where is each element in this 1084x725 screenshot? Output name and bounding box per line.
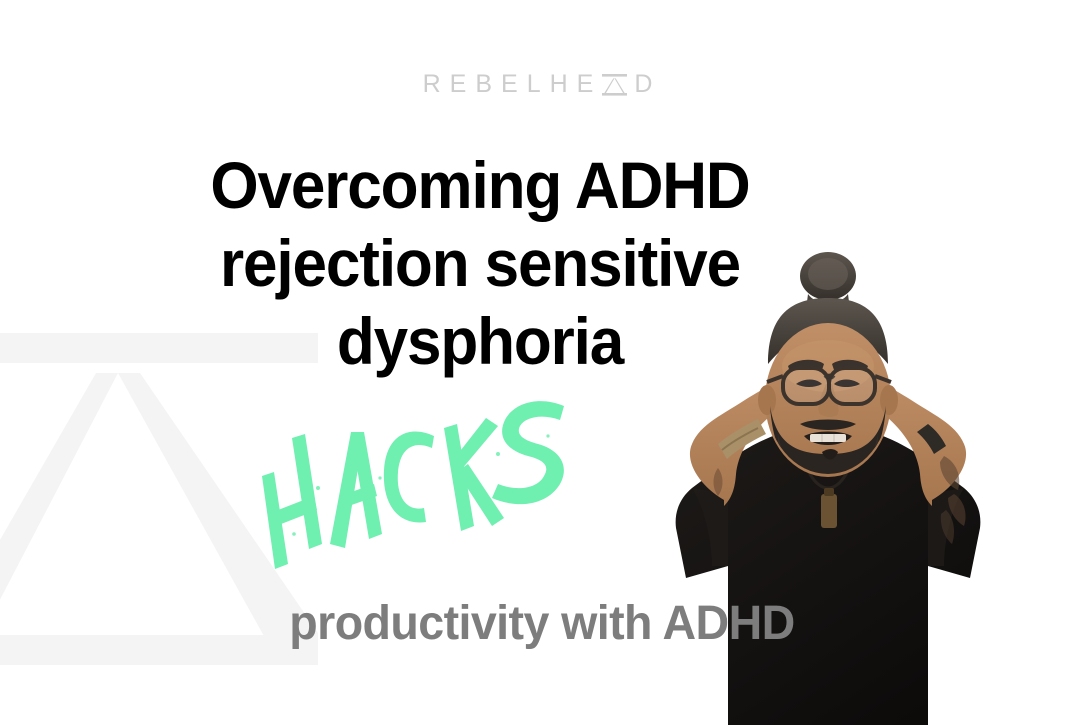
headline-line-1: Overcoming ADHD — [29, 146, 931, 224]
subtitle: productivity with ADHD — [16, 596, 1067, 651]
headline-line-3: dysphoria — [29, 302, 931, 380]
headline: Overcoming ADHD rejection sensitive dysp… — [29, 146, 931, 380]
logo-triangle-a-icon — [602, 72, 627, 97]
headline-line-2: rejection sensitive — [29, 224, 931, 302]
brand-wordmark-after: D — [634, 70, 661, 99]
brand-logo: REBELHED — [0, 70, 1084, 99]
thumbnail-canvas: REBELHED Overcoming ADHD rejection sensi… — [0, 0, 1084, 725]
brand-wordmark-before: REBELHE — [423, 70, 603, 99]
hacks-brush-text — [248, 392, 588, 582]
